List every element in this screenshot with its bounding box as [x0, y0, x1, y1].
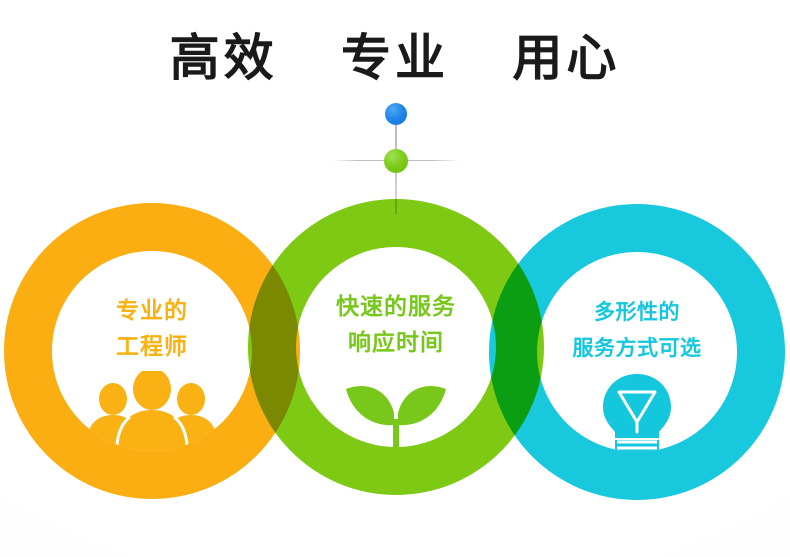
three-people-icon	[52, 367, 252, 451]
feature-card-service-options[interactable]: 多形性的 服务方式可选	[537, 252, 737, 452]
feature-text-response-time: 快速的服务 响应时间	[296, 289, 496, 361]
blue-dot-icon	[385, 103, 407, 125]
feature-card-response-time[interactable]: 快速的服务 响应时间	[296, 247, 496, 447]
lightbulb-icon	[537, 368, 737, 452]
feature-line-2: 工程师	[52, 329, 252, 365]
green-dot-icon	[384, 149, 408, 173]
feature-line-2: 响应时间	[296, 325, 496, 361]
headline-word-2: 专业	[341, 28, 449, 88]
feature-text-engineers: 专业的 工程师	[52, 293, 252, 365]
page-title: 高效 专业 用心	[0, 28, 790, 88]
infographic-canvas: 高效 专业 用心 专业的 工程师	[0, 0, 790, 557]
feature-line-2: 服务方式可选	[537, 330, 737, 366]
feature-text-service-options: 多形性的 服务方式可选	[537, 294, 737, 366]
headline-word-3: 用心	[512, 28, 620, 88]
sprout-leaf-icon	[296, 363, 496, 447]
feature-line-1: 多形性的	[594, 300, 680, 324]
headline-word-1: 高效	[170, 28, 278, 88]
feature-line-1: 快速的服务	[336, 294, 456, 320]
feature-line-1: 专业的	[116, 298, 188, 324]
feature-card-engineers[interactable]: 专业的 工程师	[52, 251, 252, 451]
